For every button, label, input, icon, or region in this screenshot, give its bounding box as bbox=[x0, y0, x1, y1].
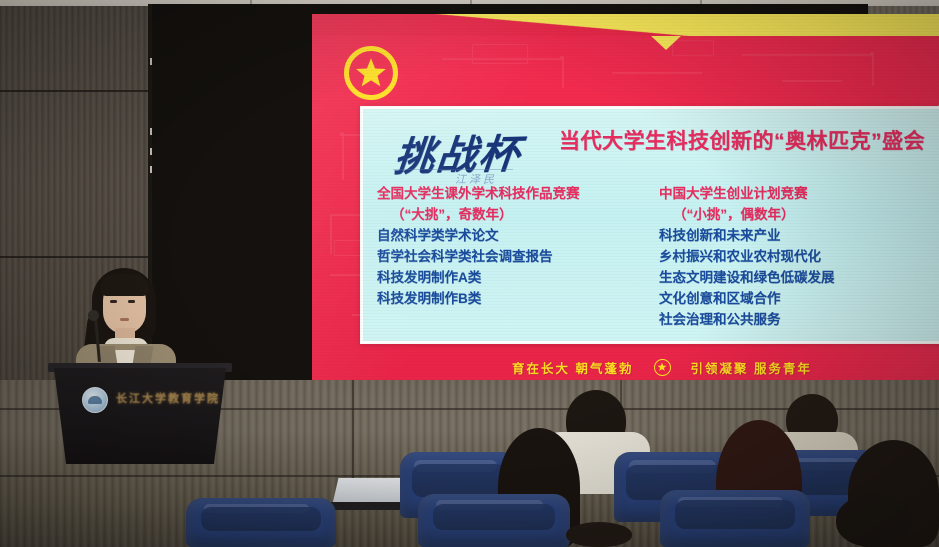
auditorium-seat bbox=[660, 490, 810, 547]
audience-area bbox=[0, 0, 939, 547]
auditorium-seat bbox=[418, 494, 570, 547]
lecture-hall-photo: 挑战杯 江泽民 当代大学生科技创新的“奥林匹克”盛会 全国大学生课外学术科技作品… bbox=[0, 0, 939, 547]
auditorium-seat bbox=[186, 498, 336, 547]
